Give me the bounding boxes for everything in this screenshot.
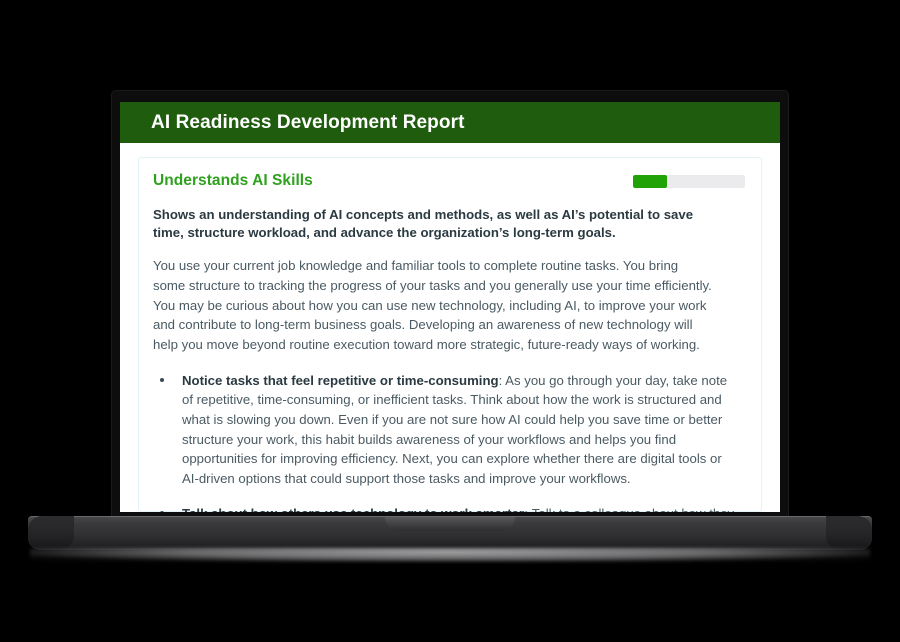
development-tip-item: Notice tasks that feel repetitive or tim… [153, 371, 738, 489]
development-tip-lead: Notice tasks that feel repetitive or tim… [182, 373, 499, 388]
bullet-dot-icon [160, 511, 164, 512]
laptop-base-notch [385, 517, 515, 531]
score-progress-bar [633, 175, 745, 188]
laptop-screen: AI Readiness Development Report Understa… [120, 102, 780, 512]
report-header-bar: AI Readiness Development Report [120, 102, 780, 143]
development-tips-list: Notice tasks that feel repetitive or tim… [153, 371, 745, 512]
competency-card: Understands AI Skills Shows an understan… [138, 157, 762, 512]
laptop-base-left-edge [28, 516, 74, 550]
competency-title: Understands AI Skills [153, 172, 313, 190]
report-body: Understands AI Skills Shows an understan… [120, 143, 780, 512]
competency-definition: Shows an understanding of AI concepts an… [153, 206, 711, 242]
laptop-shadow [30, 548, 870, 562]
card-header-row: Understands AI Skills [153, 172, 745, 190]
screenshot-stage: AI Readiness Development Report Understa… [0, 0, 900, 642]
development-tip-item: Talk about how others use technology to … [153, 504, 738, 512]
development-tip-lead: Talk about how others use technology to … [182, 506, 528, 512]
score-progress-fill [633, 175, 667, 188]
competency-narrative: You use your current job knowledge and f… [153, 256, 713, 354]
bullet-dot-icon [160, 378, 164, 382]
development-tip-body: : As you go through your day, take note … [182, 373, 727, 486]
laptop-base-right-edge [826, 516, 872, 550]
report-title: AI Readiness Development Report [151, 112, 465, 134]
